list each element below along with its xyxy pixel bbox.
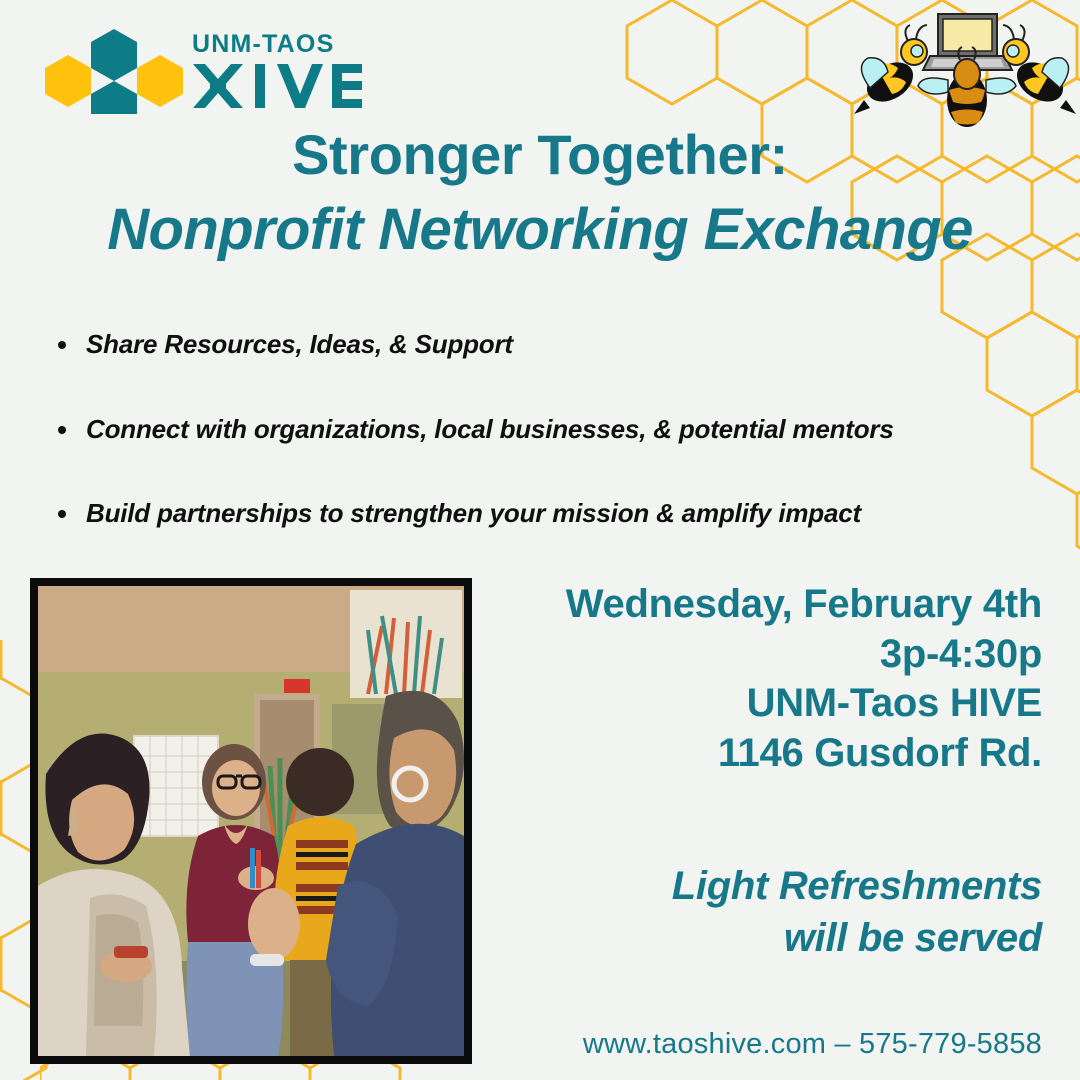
event-address: 1146 Gusdorf Rd. <box>482 729 1042 779</box>
list-item-label: Connect with organizations, local busine… <box>86 414 894 444</box>
bullet-dot-icon <box>58 510 66 518</box>
refreshments-line-1: Light Refreshments <box>482 860 1042 912</box>
event-photo <box>38 586 464 1056</box>
list-item: Build partnerships to strengthen your mi… <box>50 499 1050 528</box>
bullet-dot-icon <box>58 341 66 349</box>
logo-org-text: UNM-TAOS <box>192 30 334 58</box>
event-venue: UNM-Taos HIVE <box>482 679 1042 729</box>
unm-taos-hive-logo: UNM-TAOS <box>32 22 362 114</box>
page-title-sub: Nonprofit Networking Exchange <box>0 195 1080 265</box>
poster-canvas: UNM-TAOS <box>0 0 1080 1080</box>
event-photo-frame <box>30 578 472 1064</box>
event-date: Wednesday, February 4th <box>482 580 1042 630</box>
logo-hexagons <box>45 29 183 114</box>
bullet-dot-icon <box>58 426 66 434</box>
benefits-list: Share Resources, Ideas, & Support Connec… <box>50 330 1050 528</box>
refreshments-line-2: will be served <box>482 912 1042 964</box>
bee-right <box>1003 25 1076 114</box>
list-item: Connect with organizations, local busine… <box>50 415 1050 444</box>
event-time: 3p-4:30p <box>482 630 1042 680</box>
logo-hive-text <box>193 64 362 108</box>
list-item-label: Build partnerships to strengthen your mi… <box>86 498 861 528</box>
list-item-label: Share Resources, Ideas, & Support <box>86 329 513 359</box>
page-title-main: Stronger Together: <box>0 124 1080 187</box>
bees-with-laptop-illustration <box>854 4 1080 134</box>
title-block: Stronger Together: Nonprofit Networking … <box>0 124 1080 264</box>
list-item: Share Resources, Ideas, & Support <box>50 330 1050 359</box>
footer-contact[interactable]: www.taoshive.com – 575-779-5858 <box>342 1028 1042 1061</box>
event-details-block: Wednesday, February 4th 3p-4:30p UNM-Tao… <box>482 580 1042 778</box>
refreshments-note: Light Refreshments will be served <box>482 860 1042 964</box>
bee-left <box>854 25 927 114</box>
